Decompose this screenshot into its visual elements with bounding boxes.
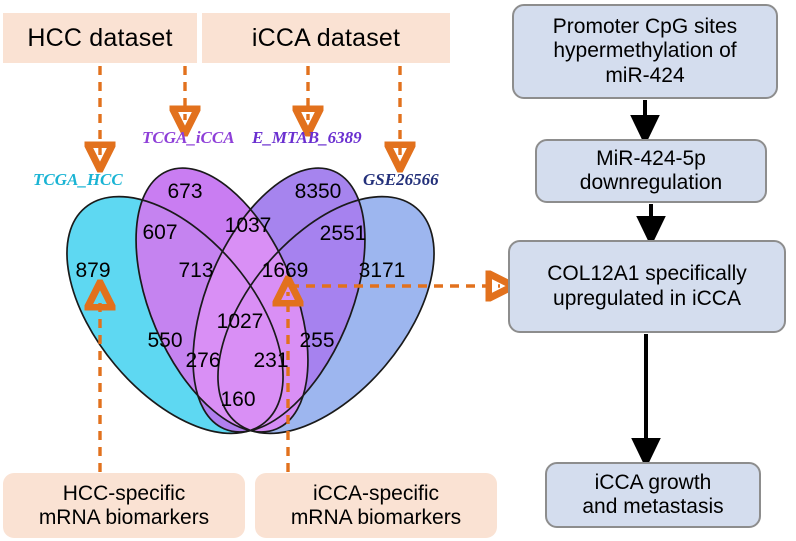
flow-box-promoter-cpg: Promoter CpG sites hypermethylation of m… [512,4,778,99]
flow-box-4-line2: and metastasis [582,495,723,519]
flow-box-col12a1-upregulated: COL12A1 specifically upregulated in iCCA [508,240,786,333]
flow-box-2-line2: downregulation [580,171,722,195]
venn-count-550: 550 [147,329,182,353]
venn-count-8350: 8350 [295,180,342,204]
flow-box-2-line1: MiR-424-5p [596,147,706,171]
venn-count-673: 673 [167,180,202,204]
venn-count-607: 607 [142,221,177,245]
venn-count-160: 160 [220,388,255,412]
icca-biomarkers-line2: mRNA biomarkers [291,506,461,530]
flow-box-mir424-downregulation: MiR-424-5p downregulation [535,139,767,203]
flow-box-3-line2: upregulated in iCCA [553,287,741,311]
venn-count-3171: 3171 [359,259,406,283]
venn-fills [25,143,475,472]
hcc-biomarkers-line1: HCC-specific [63,482,186,506]
venn-count-1027: 1027 [217,310,264,334]
flow-box-1-line2: hypermethylation of [553,39,736,63]
hcc-specific-biomarkers-box: HCC-specific mRNA biomarkers [3,473,245,538]
flow-box-4-line1: iCCA growth [595,471,712,495]
venn-set-label-gse26566: GSE26566 [363,170,439,190]
venn-count-1037: 1037 [225,214,272,238]
venn-count-276: 276 [185,349,220,373]
venn-set-label-tcga-icca: TCGA_iCCA [142,128,235,148]
diagram-canvas: HCC dataset iCCA dataset [0,0,796,541]
venn-set-label-tcga-hcc: TCGA_HCC [33,170,123,190]
venn-count-879: 879 [75,259,110,283]
venn-count-255: 255 [299,329,334,353]
venn-count-231: 231 [253,349,288,373]
icca-biomarkers-line1: iCCA-specific [313,482,439,506]
venn-count-1669: 1669 [262,259,309,283]
venn-count-713: 713 [178,259,213,283]
icca-specific-biomarkers-box: iCCA-specific mRNA biomarkers [255,473,497,538]
venn-set-label-e-mtab-6389: E_MTAB_6389 [252,128,362,148]
flow-box-icca-growth-metastasis: iCCA growth and metastasis [545,462,761,528]
flow-box-1-line3: miR-424 [605,64,684,88]
flow-box-1-line1: Promoter CpG sites [553,15,737,39]
venn-count-2551: 2551 [320,222,367,246]
flow-box-3-line1: COL12A1 specifically [547,262,747,286]
hcc-biomarkers-line2: mRNA biomarkers [39,506,209,530]
